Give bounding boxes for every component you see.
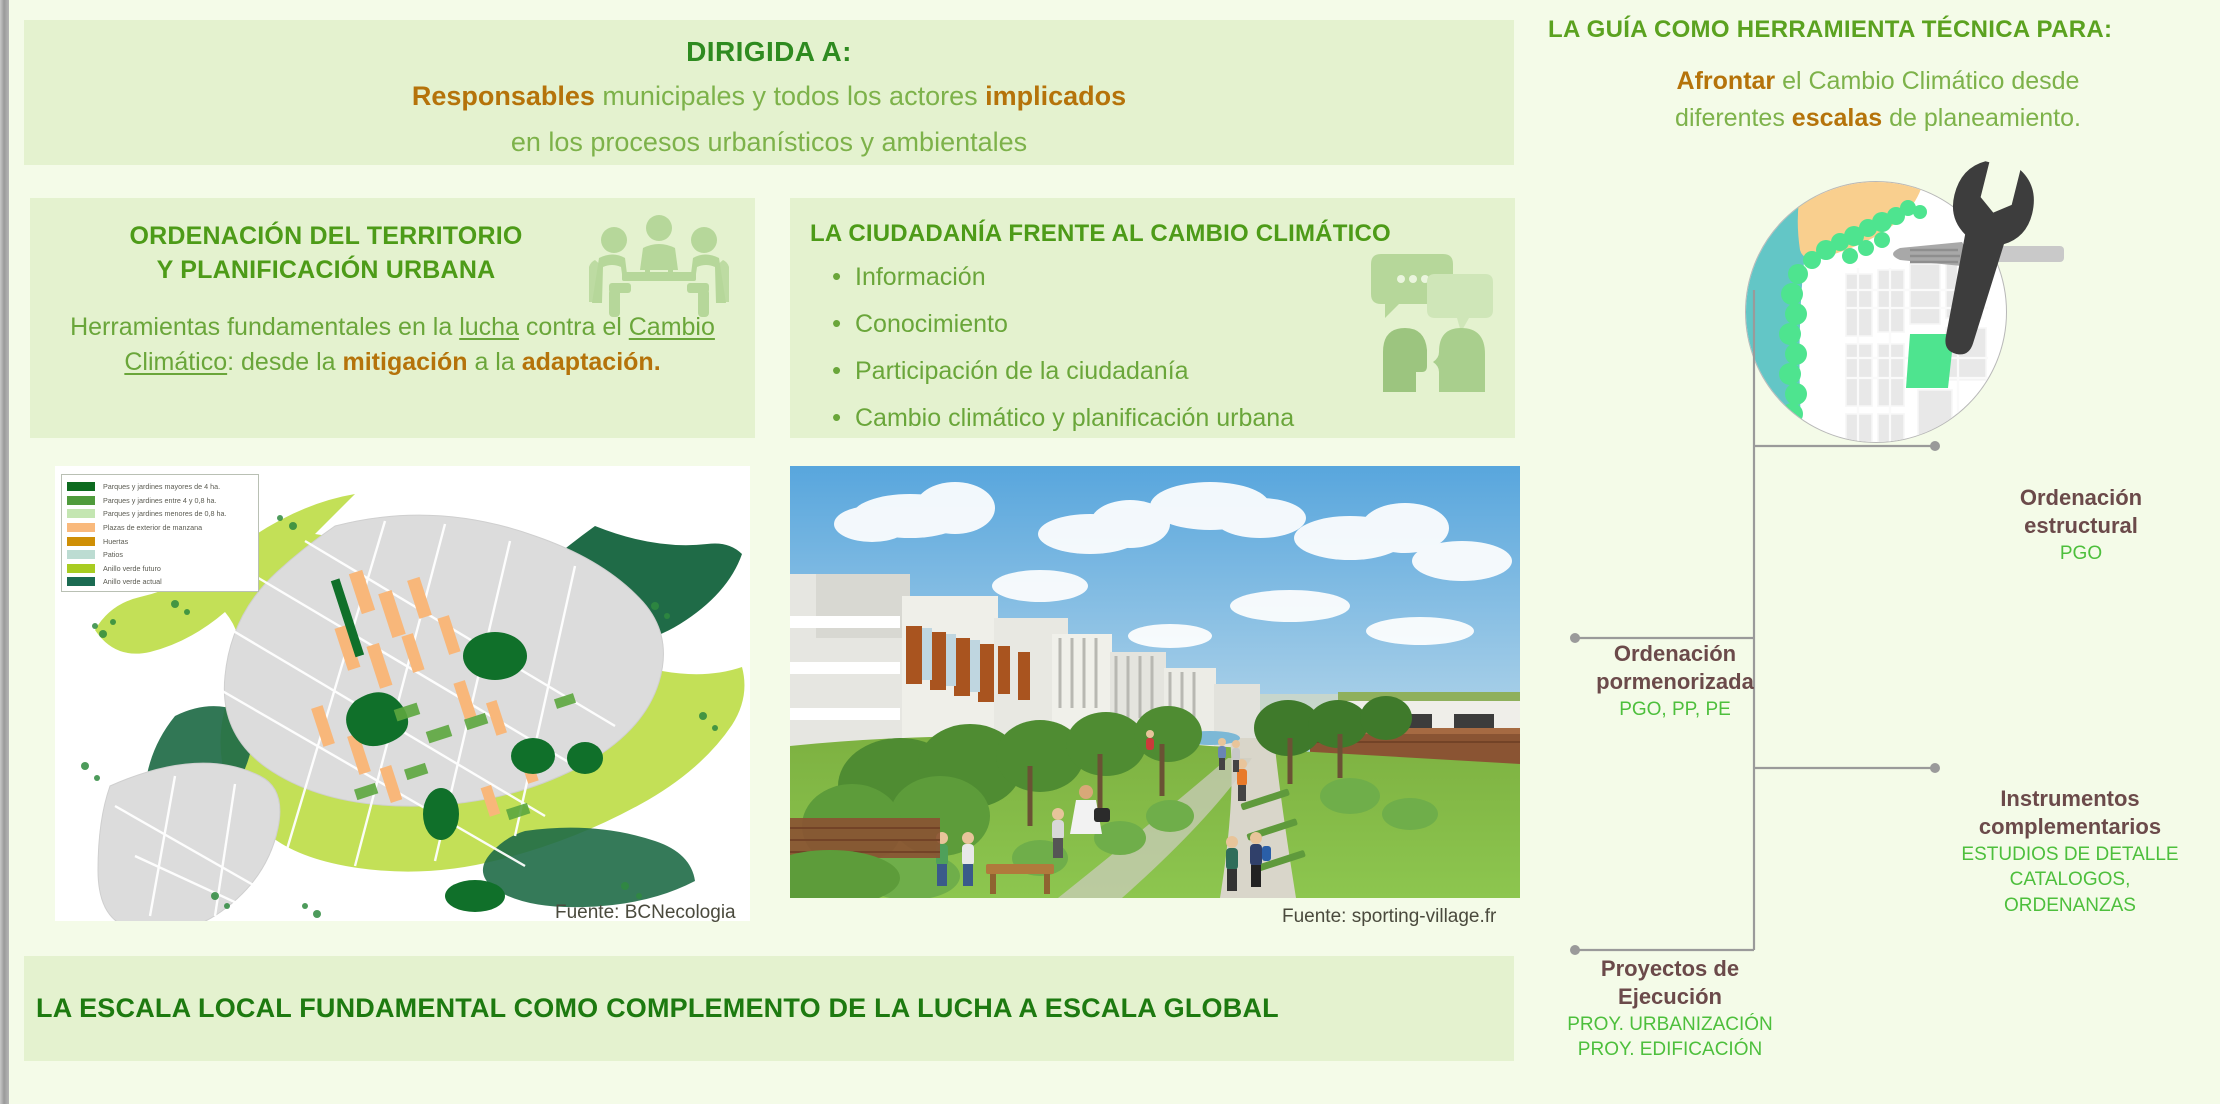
ordenacion-body: Herramientas fundamentales en la lucha c… bbox=[46, 310, 739, 381]
node-proyectos-ejecucion: Proyectos de Ejecución PROY. URBANIZACIÓ… bbox=[1545, 955, 1795, 1062]
dirigida-heading: DIRIGIDA A: bbox=[24, 36, 1514, 68]
dirigida-mid: municipales y todos los actores bbox=[595, 81, 985, 111]
ordenacion-lucha: lucha bbox=[459, 313, 519, 341]
node-title-line-1: Instrumentos bbox=[1930, 785, 2210, 813]
legend-row: Patios bbox=[67, 548, 254, 562]
guia-afrontar: Afrontar bbox=[1677, 67, 1776, 95]
legend-label: Parques y jardines mayores de 4 ha. bbox=[103, 482, 220, 491]
legend-label: Huertas bbox=[103, 537, 128, 546]
node-sub-line: PGO bbox=[1966, 542, 2196, 565]
dirigida-implicados: implicados bbox=[985, 81, 1126, 111]
legend-swatch bbox=[67, 509, 95, 518]
legend-swatch bbox=[67, 550, 95, 559]
map-legend: Parques y jardines mayores de 4 ha. Parq… bbox=[61, 474, 259, 592]
node-ordenacion-estructural: Ordenación estructural PGO bbox=[1966, 484, 2196, 565]
node-title-line-1: Ordenación bbox=[1966, 484, 2196, 512]
guia-line-1: Afrontar el Cambio Climático desde bbox=[1548, 64, 2208, 99]
ordenacion-territorio-panel: ORDENACIÓN DEL TERRITORIO Y PLANIFICACIÓ… bbox=[30, 198, 755, 438]
guia-line-2: diferentes escalas de planeamiento. bbox=[1548, 101, 2208, 136]
map-source-caption: Fuente: BCNecologia bbox=[555, 902, 736, 924]
ordenacion-mitigacion: mitigación bbox=[343, 348, 468, 376]
node-sub-line: PROY. URBANIZACIÓN bbox=[1545, 1013, 1795, 1036]
meeting-people-icon bbox=[589, 210, 729, 320]
node-title: Ordenación estructural bbox=[1966, 484, 2196, 540]
node-title-line-2: Ejecución bbox=[1545, 983, 1795, 1011]
node-title-line-2: complementarios bbox=[1930, 813, 2210, 841]
guia-heading: LA GUÍA COMO HERRAMIENTA TÉCNICA PARA: bbox=[1548, 16, 2208, 44]
ordenacion-adaptacion: adaptación. bbox=[522, 348, 661, 376]
infographic-page: DIRIGIDA A: Responsables municipales y t… bbox=[0, 0, 2220, 1104]
legend-label: Anillo verde actual bbox=[103, 577, 162, 586]
banner-text: LA ESCALA LOCAL FUNDAMENTAL COMO COMPLEM… bbox=[36, 993, 1279, 1024]
ciudadania-title: LA CIUDADANÍA FRENTE AL CAMBIO CLIMÁTICO bbox=[810, 220, 1515, 248]
legend-label: Anillo verde futuro bbox=[103, 564, 161, 573]
legend-row: Plazas de exterior de manzana bbox=[67, 521, 254, 535]
ordenacion-title-line-1: ORDENACIÓN DEL TERRITORIO bbox=[46, 220, 606, 254]
legend-swatch bbox=[67, 496, 95, 505]
map-image: Parques y jardines mayores de 4 ha. Parq… bbox=[55, 466, 750, 921]
legend-swatch bbox=[67, 537, 95, 546]
guia-escalas: escalas bbox=[1792, 104, 1882, 132]
dirigida-a-panel: DIRIGIDA A: Responsables municipales y t… bbox=[24, 20, 1514, 165]
guia-line2-a: diferentes bbox=[1675, 104, 1792, 132]
ordenacion-title-line-2: Y PLANIFICACIÓN URBANA bbox=[46, 254, 606, 288]
legend-label: Plazas de exterior de manzana bbox=[103, 523, 202, 532]
ordenacion-body-3: : desde la bbox=[227, 348, 342, 376]
legend-swatch bbox=[67, 564, 95, 573]
left-scroll-strip[interactable] bbox=[0, 0, 9, 1104]
legend-swatch bbox=[67, 577, 95, 586]
list-item: Cambio climático y planificación urbana bbox=[810, 406, 1515, 431]
legend-row: Parques y jardines mayores de 4 ha. bbox=[67, 480, 254, 494]
node-title: Proyectos de Ejecución bbox=[1545, 955, 1795, 1011]
photo-graphic bbox=[790, 466, 1520, 898]
ciudadania-panel: LA CIUDADANÍA FRENTE AL CAMBIO CLIMÁTICO… bbox=[790, 198, 1515, 438]
bottom-banner: LA ESCALA LOCAL FUNDAMENTAL COMO COMPLEM… bbox=[24, 956, 1514, 1061]
photo-source-caption: Fuente: sporting-village.fr bbox=[1282, 906, 1496, 928]
legend-row: Huertas bbox=[67, 534, 254, 548]
legend-swatch bbox=[67, 482, 95, 491]
legend-row: Parques y jardines menores de 0,8 ha. bbox=[67, 507, 254, 521]
node-title: Instrumentos complementarios bbox=[1930, 785, 2210, 841]
legend-row: Parques y jardines entre 4 y 0,8 ha. bbox=[67, 494, 254, 508]
legend-label: Patios bbox=[103, 550, 123, 559]
node-title-line-2: estructural bbox=[1966, 512, 2196, 540]
node-sub-line: CATALOGOS, bbox=[1930, 868, 2210, 891]
legend-label: Parques y jardines entre 4 y 0,8 ha. bbox=[103, 496, 216, 505]
node-sub-line: ORDENANZAS bbox=[1930, 894, 2210, 917]
legend-label: Parques y jardines menores de 0,8 ha. bbox=[103, 509, 226, 518]
node-sub-line: ESTUDIOS DE DETALLE bbox=[1930, 843, 2210, 866]
talking-heads-icon bbox=[1353, 250, 1493, 405]
node-sub-line: PROY. EDIFICACIÓN bbox=[1545, 1038, 1795, 1061]
ordenacion-body-4: a la bbox=[468, 348, 522, 376]
node-title-line-2: pormenorizada bbox=[1555, 668, 1795, 696]
urban-render-photo bbox=[790, 466, 1520, 898]
legend-row: Anillo verde futuro bbox=[67, 562, 254, 576]
node-instrumentos-complementarios: Instrumentos complementarios ESTUDIOS DE… bbox=[1930, 785, 2210, 917]
node-ordenacion-pormenorizada: Ordenación pormenorizada PGO, PP, PE bbox=[1555, 640, 1795, 721]
node-sub-line: PGO, PP, PE bbox=[1555, 698, 1795, 721]
ordenacion-title: ORDENACIÓN DEL TERRITORIO Y PLANIFICACIÓ… bbox=[46, 220, 606, 288]
guia-line2-c: de planeamiento. bbox=[1882, 104, 2081, 132]
legend-swatch bbox=[67, 523, 95, 532]
dirigida-line-2: en los procesos urbanísticos y ambiental… bbox=[24, 125, 1514, 160]
node-title-line-1: Proyectos de bbox=[1545, 955, 1795, 983]
guia-line1-rest: el Cambio Climático desde bbox=[1775, 67, 2079, 95]
ordenacion-body-1: Herramientas fundamentales en la bbox=[70, 313, 459, 341]
dirigida-responsables: Responsables bbox=[412, 81, 595, 111]
node-title-line-1: Ordenación bbox=[1555, 640, 1795, 668]
node-title: Ordenación pormenorizada bbox=[1555, 640, 1795, 696]
dirigida-line-1: Responsables municipales y todos los act… bbox=[24, 79, 1514, 114]
guia-header-block: LA GUÍA COMO HERRAMIENTA TÉCNICA PARA: A… bbox=[1548, 16, 2208, 136]
legend-row: Anillo verde actual bbox=[67, 575, 254, 589]
